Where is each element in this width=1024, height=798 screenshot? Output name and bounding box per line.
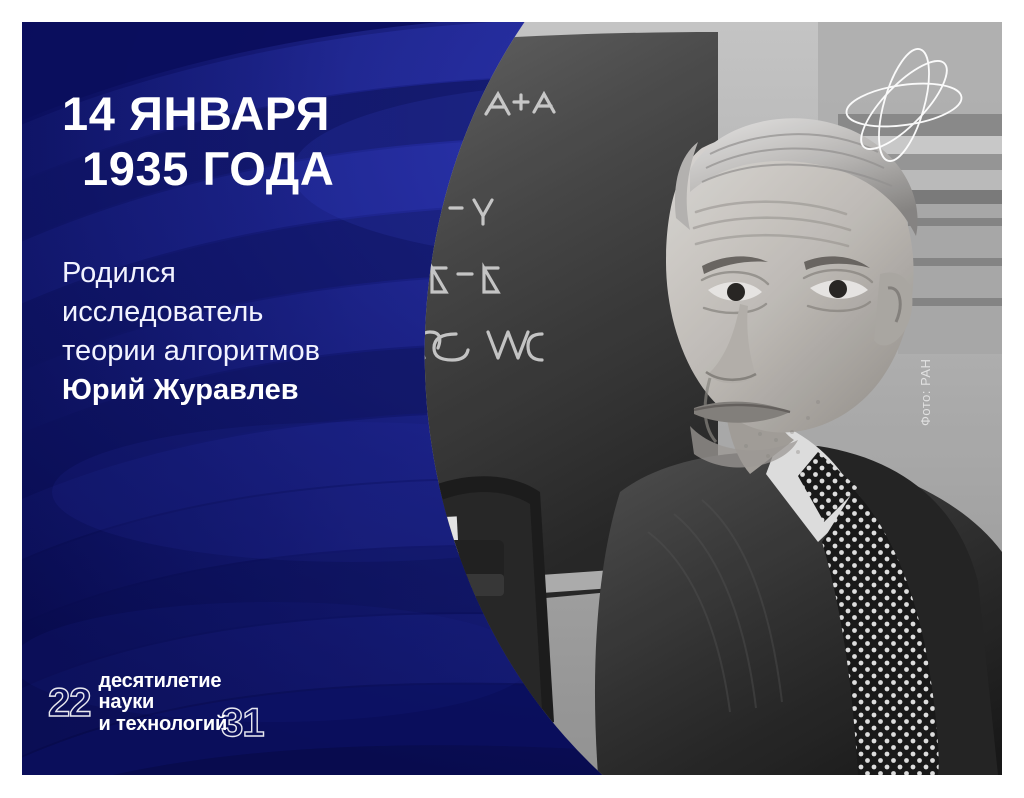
photo-credit: Фото: РАН — [918, 359, 933, 426]
decade-of-science-logo: 22 десятилетие науки и технологий 31 — [48, 669, 264, 737]
person-name: Юрий Журавлев — [62, 371, 492, 410]
headline-line-2: 1935 ГОДА — [62, 141, 482, 196]
logo-line-3: и технологий — [99, 714, 228, 736]
logo-year-start: 22 — [48, 683, 91, 723]
atom-orbits-icon — [834, 46, 974, 164]
headline-line-1: 14 ЯНВАРЯ — [62, 86, 482, 141]
logo-wordmark: десятилетие науки и технологий — [99, 671, 228, 736]
logo-line-1: десятилетие — [99, 671, 228, 693]
subtitle-line-1: Родился — [62, 254, 492, 293]
logo-line-2: науки — [99, 692, 228, 714]
subtitle-block: Родился исследователь теории алгоритмов … — [62, 254, 492, 409]
logo-year-end: 31 — [221, 703, 264, 743]
subtitle-line-3: теории алгоритмов — [62, 332, 492, 371]
subtitle-line-2: исследователь — [62, 293, 492, 332]
poster-canvas: 14 ЯНВАРЯ 1935 ГОДА Родился исследовател… — [22, 22, 1002, 775]
page-title: 14 ЯНВАРЯ 1935 ГОДА — [62, 86, 482, 197]
